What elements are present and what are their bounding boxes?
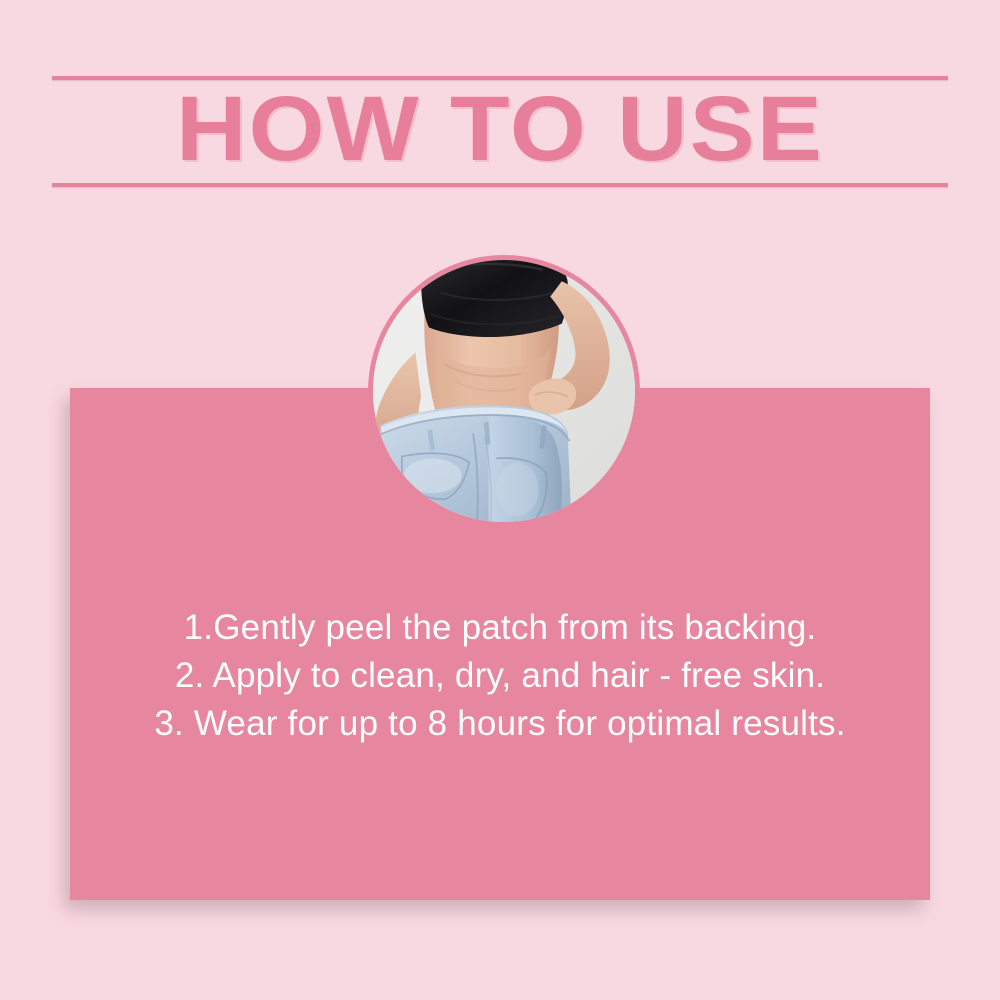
list-item: 1.Gently peel the patch from its backing… [70, 604, 930, 652]
photo-illustration [373, 260, 635, 522]
weight-loss-oversized-jeans-photo [368, 255, 640, 527]
poster-canvas: HOW TO USE [0, 0, 1000, 1000]
divider-line-bottom [52, 183, 948, 187]
list-item: 3. Wear for up to 8 hours for optimal re… [70, 700, 930, 748]
page-title: HOW TO USE [0, 77, 1000, 181]
header: HOW TO USE [0, 0, 1000, 200]
instruction-list: 1.Gently peel the patch from its backing… [70, 604, 930, 748]
list-item: 2. Apply to clean, dry, and hair - free … [70, 652, 930, 700]
